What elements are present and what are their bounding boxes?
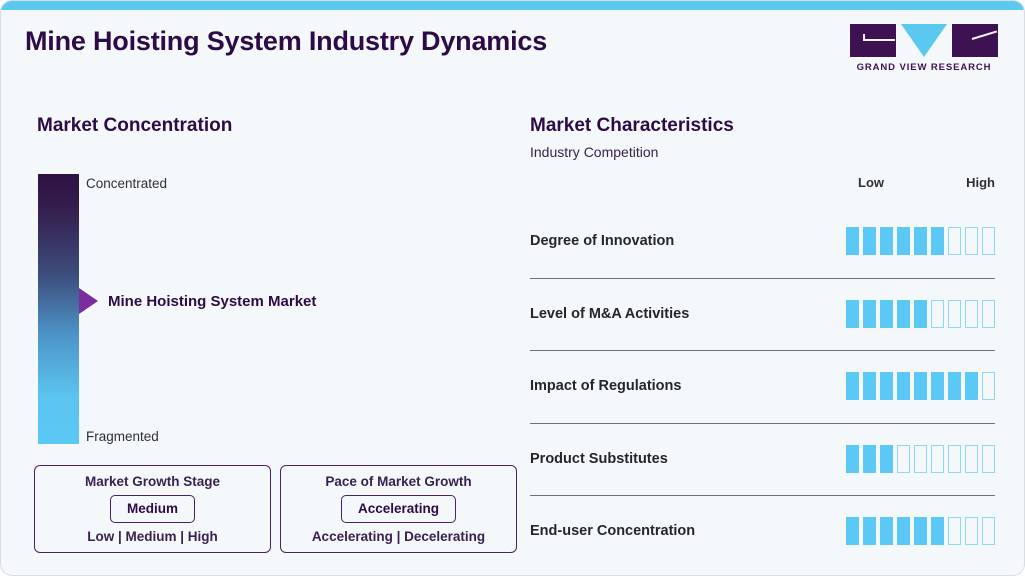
rating-pip-empty [965, 445, 978, 473]
rating-pip-filled [914, 227, 927, 255]
characteristic-rating-pips [846, 445, 995, 473]
card-title: Market Growth Stage [85, 474, 220, 489]
rating-pip-filled [880, 517, 893, 545]
rating-pip-empty [897, 445, 910, 473]
rating-pip-filled [846, 372, 859, 400]
card-value-box: Medium [110, 495, 195, 523]
brand-logo: GRAND VIEW RESEARCH [850, 24, 998, 73]
rating-pip-filled [965, 372, 978, 400]
characteristic-rating-pips [846, 227, 995, 255]
rating-pip-empty [931, 300, 944, 328]
market-characteristics-subtitle: Industry Competition [530, 144, 658, 160]
rating-pip-empty [982, 227, 995, 255]
rating-pip-filled [897, 227, 910, 255]
rating-pip-filled [846, 445, 859, 473]
characteristic-label: End-user Concentration [530, 523, 695, 539]
growth-cards: Market Growth Stage Medium Low | Medium … [34, 465, 517, 553]
characteristic-row: Level of M&A Activities [530, 278, 995, 351]
card-options: Accelerating | Decelerating [312, 529, 485, 544]
infographic-root: Mine Hoisting System Industry Dynamics G… [0, 0, 1025, 576]
header: Mine Hoisting System Industry Dynamics G… [1, 10, 1024, 82]
rating-pip-filled [931, 227, 944, 255]
scale-low-label: Low [858, 175, 884, 190]
rating-pip-empty [982, 445, 995, 473]
characteristic-row: Degree of Innovation [530, 205, 995, 278]
characteristic-row: Impact of Regulations [530, 350, 995, 423]
characteristic-label: Product Substitutes [530, 451, 668, 467]
rating-pip-filled [863, 372, 876, 400]
pip-scale-header: Low High [530, 175, 995, 193]
rating-pip-empty [948, 445, 961, 473]
page-title: Mine Hoisting System Industry Dynamics [25, 26, 547, 57]
card-options: Low | Medium | High [87, 529, 218, 544]
characteristic-rows: Degree of InnovationLevel of M&A Activit… [530, 205, 995, 568]
market-position-marker: Mine Hoisting System Market [79, 288, 316, 314]
card-value: Accelerating [358, 501, 439, 516]
concentration-gradient-bar [38, 174, 79, 444]
rating-pip-filled [914, 300, 927, 328]
card-title: Pace of Market Growth [325, 474, 471, 489]
logo-r-icon [952, 24, 998, 57]
scale-label-fragmented: Fragmented [86, 429, 159, 444]
card-value: Medium [127, 501, 178, 516]
scale-label-concentrated: Concentrated [86, 176, 167, 191]
rating-pip-filled [863, 517, 876, 545]
logo-v-icon [901, 24, 947, 57]
rating-pip-empty [982, 517, 995, 545]
characteristic-row: End-user Concentration [530, 495, 995, 568]
rating-pip-filled [846, 300, 859, 328]
rating-pip-filled [897, 300, 910, 328]
rating-pip-filled [846, 517, 859, 545]
rating-pip-filled [880, 445, 893, 473]
characteristic-rating-pips [846, 372, 995, 400]
logo-g-icon [850, 24, 896, 57]
top-accent-bar [1, 1, 1024, 10]
rating-pip-filled [863, 227, 876, 255]
rating-pip-empty [982, 300, 995, 328]
card-pace-of-market-growth: Pace of Market Growth Accelerating Accel… [280, 465, 517, 553]
rating-pip-filled [914, 517, 927, 545]
card-value-box: Accelerating [341, 495, 456, 523]
rating-pip-filled [948, 372, 961, 400]
rating-pip-empty [965, 300, 978, 328]
rating-pip-filled [880, 300, 893, 328]
logo-wordmark: GRAND VIEW RESEARCH [850, 62, 998, 73]
characteristic-label: Degree of Innovation [530, 233, 674, 249]
characteristic-rating-pips [846, 517, 995, 545]
rating-pip-empty [982, 372, 995, 400]
concentration-scale: Concentrated Fragmented [38, 174, 79, 444]
rating-pip-filled [880, 372, 893, 400]
rating-pip-empty [965, 517, 978, 545]
rating-pip-filled [863, 445, 876, 473]
logo-marks [850, 24, 998, 57]
rating-pip-filled [863, 300, 876, 328]
rating-pip-empty [948, 300, 961, 328]
rating-pip-empty [931, 445, 944, 473]
market-concentration-title: Market Concentration [37, 115, 232, 137]
rating-pip-filled [897, 517, 910, 545]
market-characteristics-title: Market Characteristics [530, 115, 734, 137]
market-position-label: Mine Hoisting System Market [108, 293, 316, 310]
market-characteristics-panel: Market Characteristics Industry Competit… [513, 101, 1025, 576]
characteristic-row: Product Substitutes [530, 423, 995, 496]
rating-pip-empty [965, 227, 978, 255]
rating-pip-filled [897, 372, 910, 400]
rating-pip-empty [914, 445, 927, 473]
rating-pip-filled [931, 372, 944, 400]
card-market-growth-stage: Market Growth Stage Medium Low | Medium … [34, 465, 271, 553]
characteristic-label: Level of M&A Activities [530, 306, 689, 322]
scale-high-label: High [966, 175, 995, 190]
characteristic-label: Impact of Regulations [530, 378, 681, 394]
rating-pip-filled [880, 227, 893, 255]
rating-pip-filled [846, 227, 859, 255]
rating-pip-filled [914, 372, 927, 400]
rating-pip-empty [948, 227, 961, 255]
rating-pip-empty [948, 517, 961, 545]
rating-pip-filled [931, 517, 944, 545]
characteristic-rating-pips [846, 300, 995, 328]
marker-arrow-icon [79, 288, 98, 314]
